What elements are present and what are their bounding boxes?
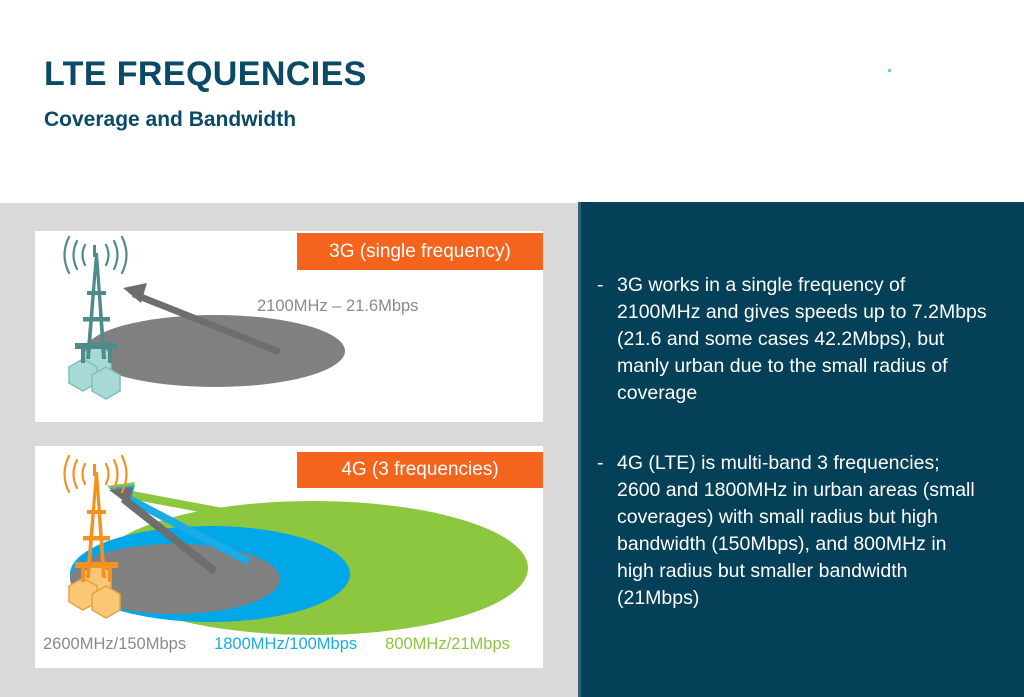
bullet-marker: - — [597, 450, 617, 612]
legend-item-800mhz: 800MHz/21Mbps — [385, 635, 510, 654]
slide-canvas: LTE FREQUENCIES Coverage and Bandwidth -… — [0, 0, 1024, 697]
bullet-text: 3G works in a single frequency of 2100MH… — [617, 272, 987, 407]
bullet-item-4g: - 4G (LTE) is multi-band 3 frequencies; … — [597, 450, 987, 612]
legend-4g: 2600MHz/150Mbps 1800MHz/100Mbps 800MHz/2… — [43, 635, 543, 654]
frequency-label-3g: 2100MHz – 21.6Mbps — [257, 297, 418, 316]
bullet-item-3g: - 3G works in a single frequency of 2100… — [597, 272, 987, 407]
legend-item-1800mhz: 1800MHz/100Mbps — [214, 635, 357, 654]
slide-header: LTE FREQUENCIES Coverage and Bandwidth — [0, 0, 1024, 203]
bullet-text: 4G (LTE) is multi-band 3 frequencies; 26… — [617, 450, 987, 612]
badge-3g: 3G (single frequency) — [297, 233, 543, 270]
card-4g: 4G (3 frequencies) 2600MHz/150Mbps 1800M… — [35, 446, 543, 668]
badge-4g: 4G (3 frequencies) — [297, 452, 543, 488]
card-3g: 3G (single frequency) 2100MHz – 21.6Mbps — [35, 231, 543, 422]
bullet-marker: - — [597, 272, 617, 407]
speck-artifact — [888, 69, 891, 72]
page-title: LTE FREQUENCIES — [44, 55, 367, 94]
legend-item-2600mhz: 2600MHz/150Mbps — [43, 635, 186, 654]
cell-tower-4g — [75, 464, 118, 582]
cell-tower-3g — [75, 245, 118, 363]
panel-left-edge — [578, 202, 581, 697]
page-subtitle: Coverage and Bandwidth — [44, 108, 296, 132]
